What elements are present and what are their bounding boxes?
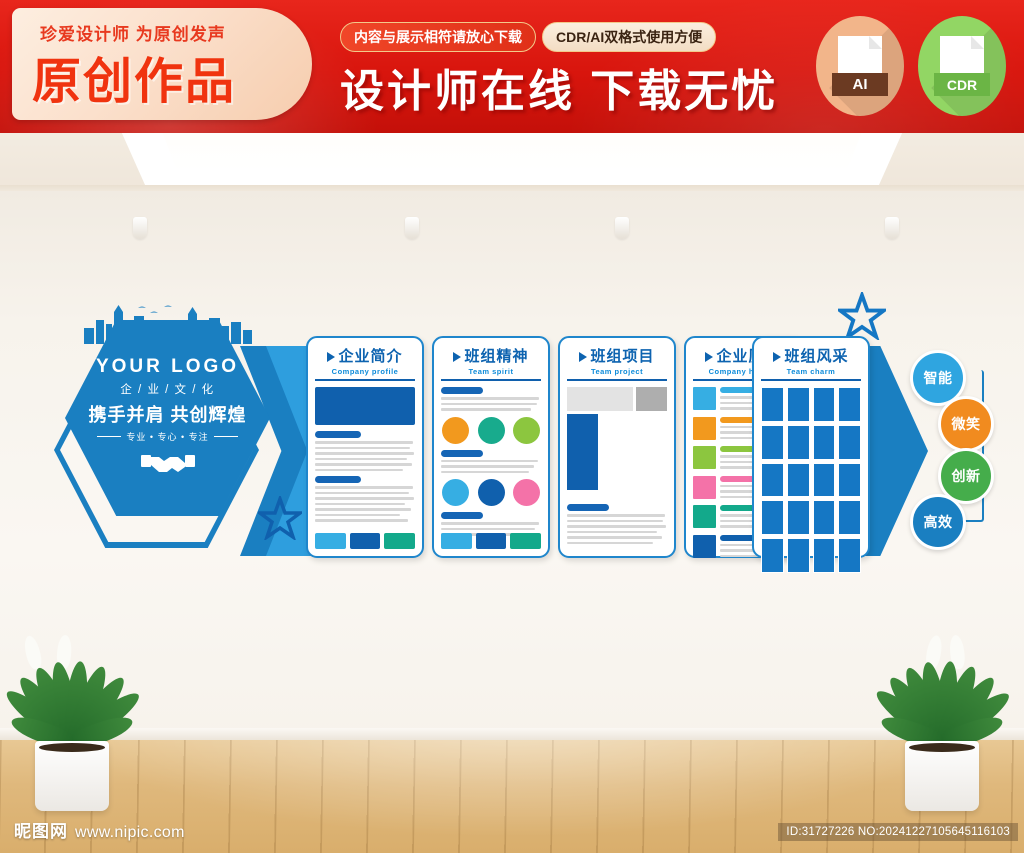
logo-slogan-text: 携手并肩 共创辉煌 [88, 401, 246, 427]
ceiling-lamp-icon [133, 217, 147, 239]
panel-title-cn: 班组风采 [761, 345, 861, 366]
subhead-tab [567, 504, 609, 511]
cdr-doc-shape: CDR [940, 36, 984, 96]
ceiling-lamp-icon [615, 217, 629, 239]
project-mosaic [567, 387, 667, 499]
panel-body [441, 387, 541, 536]
banner-left-title: 原创作品 [32, 42, 236, 113]
logo-brand-text: YOUR LOGO [96, 356, 239, 378]
cdr-format-label: CDR [934, 73, 990, 96]
banner-headline: 设计师在线 下载无忧 [340, 55, 778, 119]
plant-pot [905, 741, 979, 811]
subhead-tab [315, 431, 361, 438]
ai-page-fold [869, 36, 882, 49]
handshake-icon [140, 449, 196, 480]
panel-company-profile[interactable]: 企业简介 Company profile [306, 336, 424, 558]
panel-swatches [315, 533, 415, 549]
potted-plant-icon [12, 585, 132, 765]
asset-id-badge: ID:31727226 NO:20241227105645116103 [778, 823, 1018, 841]
panel-title-cn: 班组精神 [441, 345, 541, 366]
spirit-dot-row [442, 417, 540, 444]
plant-bloom [22, 634, 44, 670]
panel-title-cn: 班组项目 [567, 345, 667, 366]
panel-header: 企业简介 Company profile [315, 345, 415, 381]
potted-plant-icon [882, 585, 1002, 765]
panel-title-en: Team spirit [441, 367, 541, 376]
hero-block [315, 387, 415, 425]
logo-keywords-text: 专业 • 专心 • 专注 [126, 430, 208, 443]
original-work-plate: 珍爱设计师 为原创发声 原创作品 [12, 8, 312, 120]
star-outline-icon [838, 292, 886, 340]
triangle-icon [327, 352, 335, 362]
ai-format-label: AI [832, 73, 888, 96]
panel-title-en: Team charm [761, 367, 861, 376]
panel-body [761, 387, 861, 573]
watermark-url: www.nipic.com [75, 824, 185, 842]
panel-swatches [441, 533, 541, 549]
ceiling-lamp-icon [405, 217, 419, 239]
room-scene: YOUR LOGO 企 / 业 / 文 / 化 携手并肩 共创辉煌 专业 • 专… [0, 133, 1024, 853]
triangle-icon [579, 352, 587, 362]
ceiling-lamp-icon [885, 217, 899, 239]
panel-title-en: Company profile [315, 367, 415, 376]
panel-title-cn: 企业简介 [315, 345, 415, 366]
photo-grid [761, 387, 861, 573]
panel-team-project[interactable]: 班组项目 Team project [558, 336, 676, 558]
promo-banner: 珍爱设计师 为原创发声 原创作品 内容与展示相符请放心下载 CDR/AI双格式使… [0, 0, 1024, 133]
baseboard [0, 728, 1024, 740]
pill-content-match: 内容与展示相符请放心下载 [340, 22, 536, 52]
badge-circle-efficiency[interactable]: 高效 [910, 494, 966, 550]
cdr-file-icon: CDR [918, 16, 1006, 116]
spirit-dot-row [442, 479, 540, 506]
screenshot-root: 珍爱设计师 为原创发声 原创作品 内容与展示相符请放心下载 CDR/AI双格式使… [0, 0, 1024, 853]
logo-keywords-line: 专业 • 专心 • 专注 [97, 430, 237, 443]
subhead-tab [441, 450, 483, 457]
site-watermark: 昵图网 www.nipic.com [14, 817, 185, 842]
star-outline-icon [258, 496, 302, 540]
skylight-inner [140, 133, 884, 171]
triangle-icon [773, 352, 781, 362]
triangle-icon [705, 352, 713, 362]
format-badges: AI CDR [816, 16, 1006, 116]
subhead-tab [315, 476, 361, 483]
watermark-cn: 昵图网 [14, 817, 68, 842]
subhead-tab [441, 512, 483, 519]
panel-title-en: Team project [567, 367, 667, 376]
banner-pill-group: 内容与展示相符请放心下载 CDR/AI双格式使用方便 [340, 22, 716, 52]
panel-team-spirit[interactable]: 班组精神 Team spirit [432, 336, 550, 558]
panel-header: 班组风采 Team charm [761, 345, 861, 381]
ai-file-icon: AI [816, 16, 904, 116]
ai-doc-shape: AI [838, 36, 882, 96]
logo-hexagon-content: YOUR LOGO 企 / 业 / 文 / 化 携手并肩 共创辉煌 专业 • 专… [65, 320, 270, 516]
pill-dual-format: CDR/AI双格式使用方便 [542, 22, 716, 52]
cdr-page-fold [971, 36, 984, 49]
triangle-icon [453, 352, 461, 362]
badge-circle-smile[interactable]: 微笑 [938, 396, 994, 452]
panel-body [315, 387, 415, 522]
panel-header: 班组项目 Team project [567, 345, 667, 381]
subhead-tab [441, 387, 483, 394]
logo-culture-text: 企 / 业 / 文 / 化 [120, 381, 214, 397]
plant-pot [35, 741, 109, 811]
culture-wall-artwork: YOUR LOGO 企 / 业 / 文 / 化 携手并肩 共创辉煌 专业 • 专… [52, 308, 1002, 558]
panel-team-charm[interactable]: 班组风采 Team charm [752, 336, 870, 558]
panel-body [567, 387, 667, 544]
panel-header: 班组精神 Team spirit [441, 345, 541, 381]
